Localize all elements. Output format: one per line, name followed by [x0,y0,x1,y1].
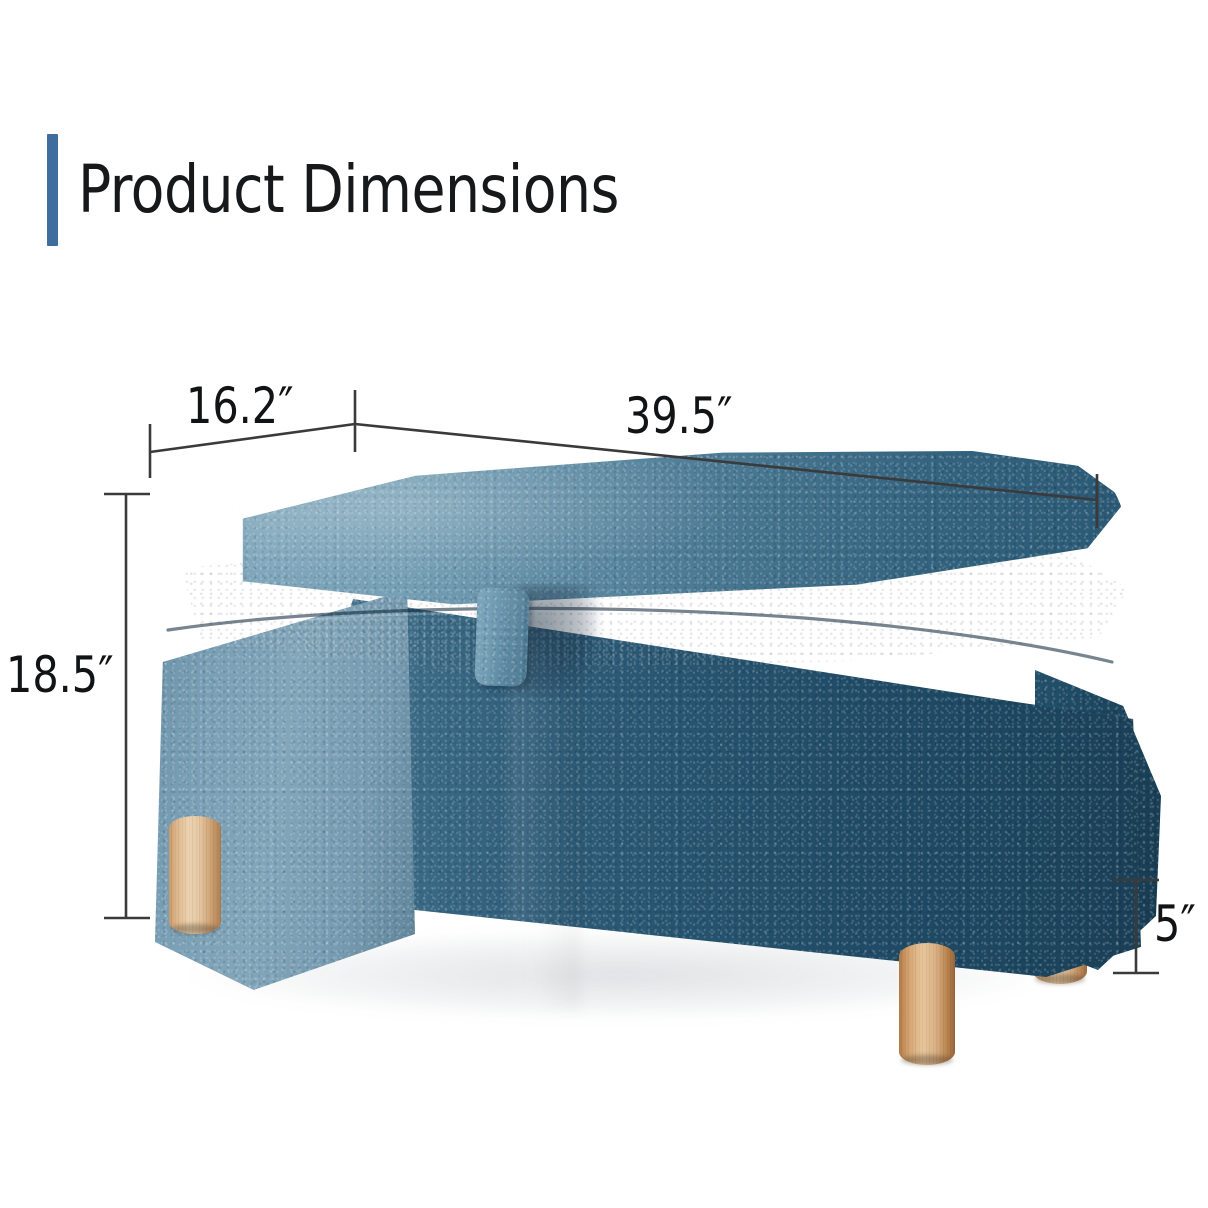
dimension-label-leg-height: 5″ [1154,899,1196,949]
leg-tip-shadow [171,924,219,934]
dimension-label-depth: 16.2″ [186,381,294,431]
product-illustration [0,0,1208,1208]
bench-body [140,440,1140,1000]
lid-seam [164,600,1116,670]
leg-front-right [899,943,955,1065]
leg-tip-shadow [901,1055,953,1065]
wood-grain [899,943,955,1065]
dimension-label-height: 18.5″ [6,650,114,700]
lid-pull-tab [474,587,529,687]
lid-seam-line [164,600,1116,670]
pull-tab-shadow [518,586,598,696]
dimension-label-width: 39.5″ [625,391,733,441]
wood-grain [169,816,221,934]
boucle-texture [474,587,529,687]
leg-front-left [169,816,221,934]
